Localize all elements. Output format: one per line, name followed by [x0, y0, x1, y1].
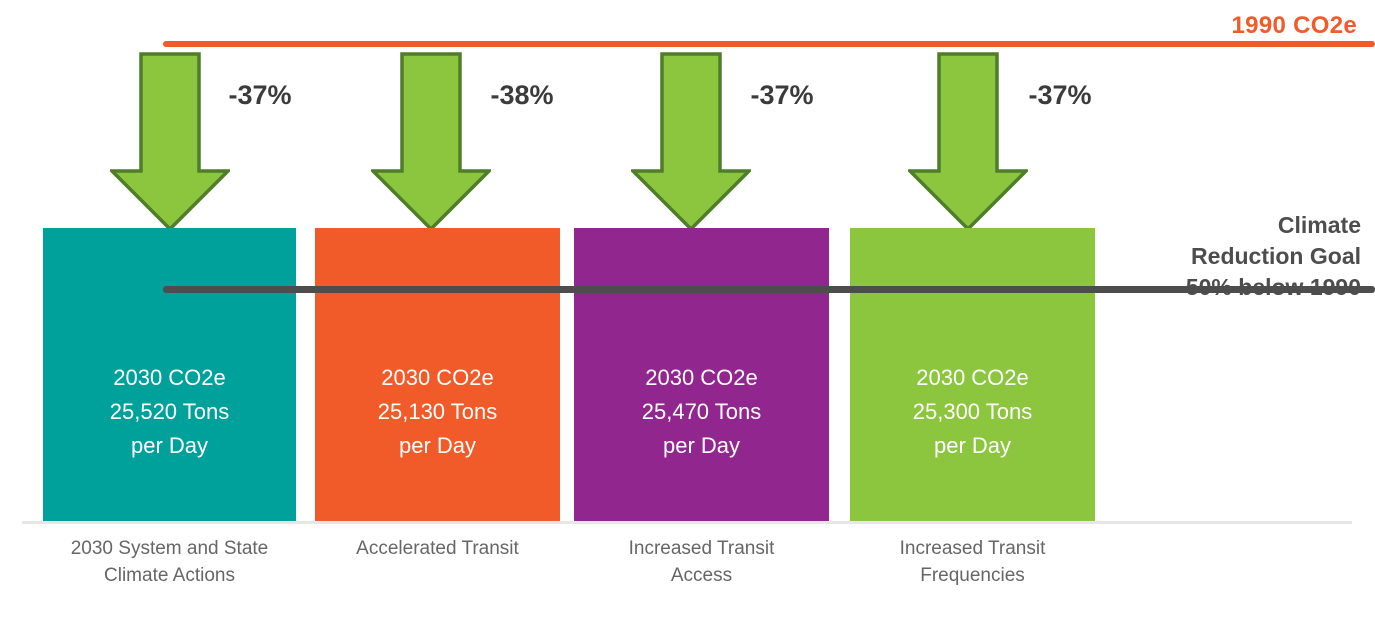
goal-label-line2: Reduction Goal	[1131, 241, 1361, 272]
bar-value-4-line2: 25,300 Tons	[850, 395, 1095, 429]
reference-line-1990	[163, 41, 1375, 47]
bar-value-2-line3: per Day	[315, 429, 560, 463]
bar-increased-frequencies[interactable]: 2030 CO2e 25,300 Tons per Day	[850, 228, 1095, 521]
axis-baseline	[22, 521, 1352, 524]
category-label-3-line1: Increased Transit	[574, 535, 829, 562]
bar-value-3-line2: 25,470 Tons	[574, 395, 829, 429]
bar-accelerated-transit[interactable]: 2030 CO2e 25,130 Tons per Day	[315, 228, 560, 521]
category-label-1-line1: 2030 System and State	[23, 535, 316, 562]
category-label-4-line2: Frequencies	[850, 562, 1095, 589]
emissions-reduction-chart: 1990 CO2e -37% -38% -37% -37% 2030 CO2e …	[0, 0, 1375, 627]
bar-value-2-line2: 25,130 Tons	[315, 395, 560, 429]
bar-value-1: 2030 CO2e 25,520 Tons per Day	[43, 361, 296, 463]
bar-value-1-line3: per Day	[43, 429, 296, 463]
category-label-3: Increased Transit Access	[574, 535, 829, 589]
bar-increased-access[interactable]: 2030 CO2e 25,470 Tons per Day	[574, 228, 829, 521]
bar-value-3-line3: per Day	[574, 429, 829, 463]
goal-label-line1: Climate	[1131, 210, 1361, 241]
category-label-3-line2: Access	[574, 562, 829, 589]
reduction-arrow-4	[908, 52, 1028, 232]
reduction-arrow-2	[371, 52, 491, 232]
category-label-1-line2: Climate Actions	[23, 562, 316, 589]
category-label-2: Accelerated Transit	[315, 535, 560, 562]
bar-value-4: 2030 CO2e 25,300 Tons per Day	[850, 361, 1095, 463]
goal-label-line3: 50% below 1990	[1131, 272, 1361, 303]
bar-value-1-line1: 2030 CO2e	[43, 361, 296, 395]
bar-value-4-line3: per Day	[850, 429, 1095, 463]
percent-label-1: -37%	[200, 80, 320, 111]
bar-value-3-line1: 2030 CO2e	[574, 361, 829, 395]
reference-label-1990: 1990 CO2e	[1232, 12, 1357, 40]
category-label-4: Increased Transit Frequencies	[850, 535, 1095, 589]
category-label-4-line1: Increased Transit	[850, 535, 1095, 562]
reduction-arrow-1	[110, 52, 230, 232]
bar-value-1-line2: 25,520 Tons	[43, 395, 296, 429]
percent-label-3: -37%	[722, 80, 842, 111]
bar-value-2-line1: 2030 CO2e	[315, 361, 560, 395]
reduction-arrow-3	[631, 52, 751, 232]
category-label-2-line1: Accelerated Transit	[315, 535, 560, 562]
bar-value-4-line1: 2030 CO2e	[850, 361, 1095, 395]
bar-value-3: 2030 CO2e 25,470 Tons per Day	[574, 361, 829, 463]
bar-value-2: 2030 CO2e 25,130 Tons per Day	[315, 361, 560, 463]
percent-label-2: -38%	[462, 80, 582, 111]
category-label-1: 2030 System and State Climate Actions	[23, 535, 316, 589]
percent-label-4: -37%	[1000, 80, 1120, 111]
goal-label: Climate Reduction Goal 50% below 1990	[1131, 210, 1361, 303]
bar-climate-actions[interactable]: 2030 CO2e 25,520 Tons per Day	[43, 228, 296, 521]
